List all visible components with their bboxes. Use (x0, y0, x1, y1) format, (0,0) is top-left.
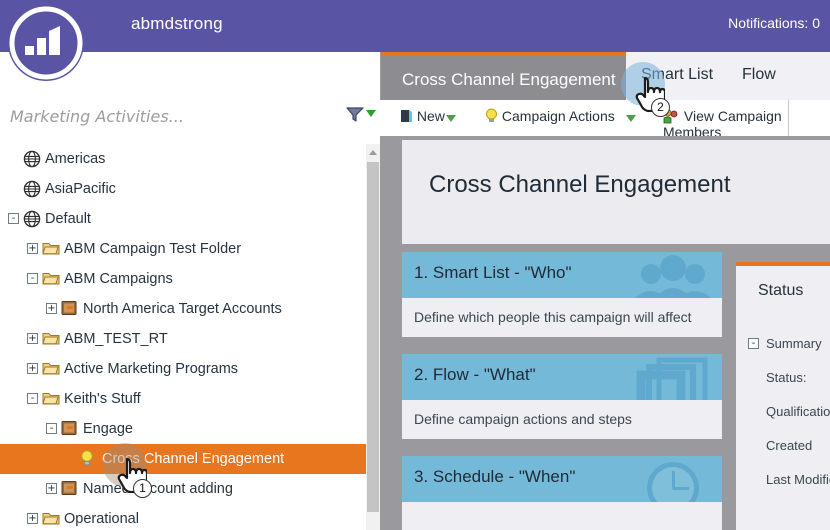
status-row-label: Status: (766, 370, 806, 385)
marketo-logo-icon[interactable] (8, 5, 84, 81)
tree-item[interactable]: -ABM Campaigns (0, 264, 366, 294)
step-title: 1. Smart List - "Who" (414, 263, 572, 283)
tree-item[interactable]: AsiaPacific (0, 174, 366, 204)
summary-expander[interactable]: - (748, 338, 759, 349)
status-panel-title: Status (758, 282, 803, 300)
step-title: 3. Schedule - "When" (414, 467, 575, 487)
qualification-row-label: Qualification (766, 404, 830, 419)
step-title: 2. Flow - "What" (414, 365, 536, 385)
tree-item[interactable]: +ABM_TEST_RT (0, 324, 366, 354)
step-description: Define which people this campaign will a… (402, 298, 722, 337)
left-navigation-panel: Marketing Activities... AmericasAsiaPaci… (0, 52, 380, 530)
search-input[interactable]: Marketing Activities... (10, 107, 184, 126)
tree-item[interactable]: +Operational (0, 504, 366, 530)
tab-smart-list[interactable]: Smart List (641, 66, 713, 84)
tree-item-label: Engage (83, 414, 133, 444)
tree-item[interactable]: -Default (0, 204, 366, 234)
step-card-header: 3. Schedule - "When" (402, 456, 722, 502)
members-icon (663, 109, 680, 124)
tab-active-label: Cross Channel Engagement (402, 70, 616, 90)
tree-item-label: Keith's Stuff (64, 384, 141, 414)
globe-icon (23, 210, 41, 228)
username-label: abmdstrong (131, 14, 223, 34)
tree-expander-icon[interactable]: - (27, 393, 38, 404)
search-row: Marketing Activities... (0, 92, 380, 144)
tree-item[interactable]: -Engage (0, 414, 366, 444)
tree-item-label: Active Marketing Programs (64, 354, 238, 384)
tree-expander-icon[interactable]: + (27, 333, 38, 344)
folder-icon (42, 330, 60, 348)
tree-expander-icon[interactable]: - (8, 213, 19, 224)
tree-item-label: AsiaPacific (45, 174, 116, 204)
step-description: Define campaign actions and steps (402, 400, 722, 439)
content-region: Cross Channel Engagement Smart List Flow… (380, 52, 830, 530)
tree-item[interactable]: Cross Channel Engagement (0, 444, 366, 474)
globe-icon (23, 180, 41, 198)
tree-expander-icon[interactable]: + (27, 363, 38, 374)
campaign-actions-chevron-down-icon[interactable] (626, 115, 636, 122)
tree-item[interactable]: -Keith's Stuff (0, 384, 366, 414)
top-header-bar: abmdstrong Notifications: 0 (0, 0, 830, 52)
step-card-header: 1. Smart List - "Who" (402, 252, 722, 298)
tree-expander-icon[interactable]: + (27, 513, 38, 524)
folder-tree[interactable]: AmericasAsiaPacific-Default+ABM Campaign… (0, 144, 380, 530)
tree-item-label: ABM_TEST_RT (64, 324, 168, 354)
new-chevron-down-icon[interactable] (446, 115, 456, 122)
toolbar-divider (788, 100, 789, 136)
step-card-smart-list[interactable]: 1. Smart List - "Who" Define which peopl… (402, 252, 722, 337)
tree-item-label: ABM Campaign Test Folder (64, 234, 241, 264)
app-root: abmdstrong Notifications: 0 Marketing Ac… (0, 0, 830, 530)
tree-item[interactable]: +Active Marketing Programs (0, 354, 366, 384)
tree-item-label: Cross Channel Engagement (102, 444, 284, 474)
lightbulb-icon (485, 108, 498, 124)
tree-item[interactable]: +ABM Campaign Test Folder (0, 234, 366, 264)
last-modified-row-label: Last Modified (766, 472, 830, 487)
tree-item-label: ABM Campaigns (64, 264, 173, 294)
scrollbar-thumb[interactable] (367, 162, 379, 512)
people-icon (631, 252, 716, 298)
action-toolbar: New Campaign Actions View Campaign Membe… (380, 100, 830, 136)
folder-icon (42, 270, 60, 288)
new-button[interactable]: New (400, 108, 445, 124)
notifications-label[interactable]: Notifications: 0 (728, 15, 820, 31)
step-card-header: 2. Flow - "What" (402, 354, 722, 400)
tree-expander-icon[interactable]: - (27, 273, 38, 284)
program-icon (61, 480, 79, 498)
summary-label: Summary (766, 336, 822, 351)
folder-icon (42, 510, 60, 528)
program-icon (61, 420, 79, 438)
globe-icon (23, 150, 41, 168)
scroll-up-arrow-icon[interactable] (366, 144, 380, 160)
tree-item-label: Operational (64, 504, 139, 530)
tree-expander-icon[interactable]: + (46, 303, 57, 314)
funnel-chevron-down-icon[interactable] (366, 110, 376, 117)
tree-expander-icon[interactable]: - (46, 423, 57, 434)
folder-icon (42, 390, 60, 408)
step-description (402, 502, 722, 530)
tree-item-label: Americas (45, 144, 105, 174)
funnel-icon[interactable] (345, 104, 365, 129)
tab-cross-channel-engagement[interactable]: Cross Channel Engagement (381, 52, 626, 100)
stacked-squares-icon (631, 354, 716, 400)
step-card-schedule[interactable]: 3. Schedule - "When" (402, 456, 722, 530)
tree-scrollbar[interactable] (366, 144, 380, 530)
campaign-actions-label: Campaign Actions (502, 108, 615, 124)
tree-item-label: Default (45, 204, 91, 234)
created-row-label: Created (766, 438, 812, 453)
tree-item[interactable]: +North America Target Accounts (0, 294, 366, 324)
tree-item[interactable]: +Named Account adding (0, 474, 366, 504)
tab-strip: Cross Channel Engagement Smart List Flow (380, 52, 830, 100)
tree-item[interactable]: Americas (0, 144, 366, 174)
clock-icon (631, 456, 716, 502)
tree-expander-icon[interactable]: + (46, 483, 57, 494)
page-title: Cross Channel Engagement (429, 171, 731, 199)
tree-item-label: Named Account adding (83, 474, 233, 504)
step-card-flow[interactable]: 2. Flow - "What" Define campaign actions… (402, 354, 722, 439)
new-document-icon (400, 109, 413, 123)
new-label: New (417, 108, 445, 124)
tree-item-label: North America Target Accounts (83, 294, 282, 324)
tree-expander-icon[interactable]: + (27, 243, 38, 254)
campaign-actions-button[interactable]: Campaign Actions (485, 108, 615, 124)
bulb-icon (80, 450, 98, 468)
folder-icon (42, 240, 60, 258)
program-title-card: Cross Channel Engagement (402, 140, 830, 244)
program-icon (61, 300, 79, 318)
secondary-tabs: Smart List Flow (626, 52, 830, 100)
tab-flow[interactable]: Flow (742, 66, 776, 84)
status-panel: Status - Summary Status: Qualification C… (736, 262, 830, 530)
folder-icon (42, 360, 60, 378)
